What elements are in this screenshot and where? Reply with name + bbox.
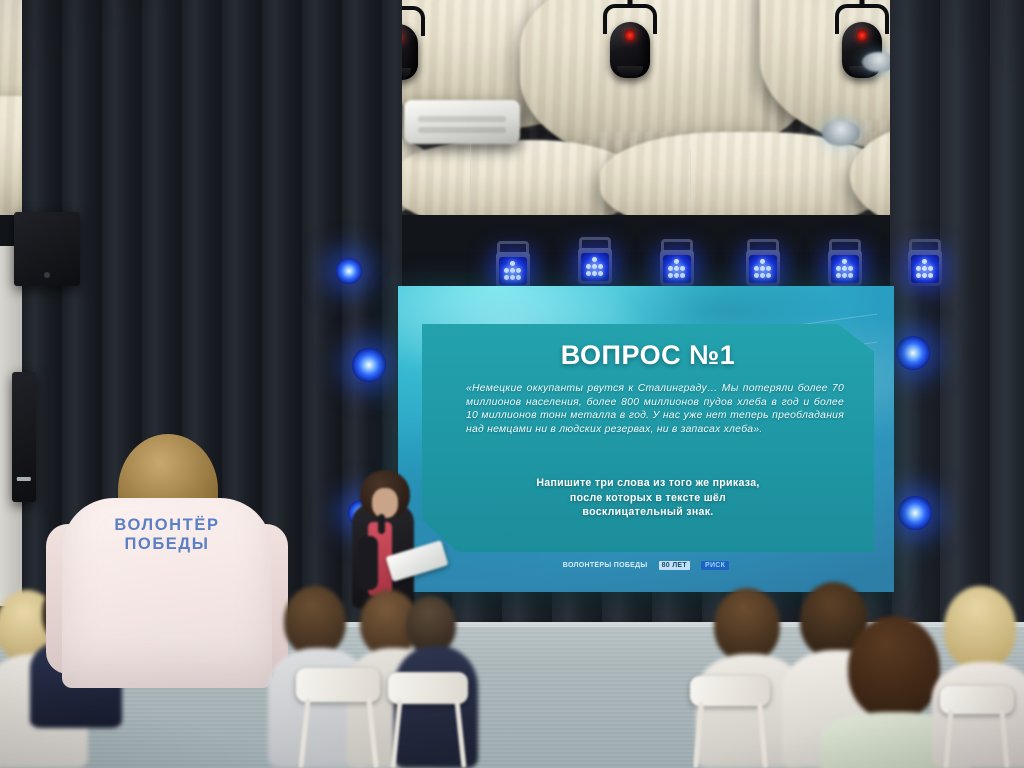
slide-content-panel: ВОПРОС №1 «Немецкие оккупанты рвутся к С… (422, 324, 874, 552)
volunteers-of-victory-logo: ВОЛОНТЁРЫ ПОБЕДЫ (563, 562, 648, 569)
risk-logo: РИСК (701, 561, 729, 570)
slide-task-line-2: после которых в тексте шёл (452, 491, 844, 506)
80-let-pobedy-logo: 80 ЛЕТ (659, 561, 690, 570)
par-light (746, 250, 780, 286)
ceiling-downlight (822, 120, 860, 146)
hanging-wire (470, 140, 471, 218)
ceiling-projector (404, 100, 520, 144)
slide-logo-row: ВОЛОНТЁРЫ ПОБЕДЫ 80 ЛЕТ РИСК (398, 561, 894, 570)
par-light (496, 252, 530, 288)
volunteer-shirt-text: ВОЛОНТЁР ПОБЕДЫ (62, 516, 272, 554)
folding-chair (940, 686, 1024, 768)
blue-spot-light (898, 496, 932, 530)
slide-task-line-3: восклицательный знак. (452, 505, 844, 520)
shirt-line-1: ВОЛОНТЁР (62, 516, 272, 535)
loudspeaker-column (12, 372, 36, 502)
slide-title: ВОПРОС №1 (422, 340, 874, 371)
folding-chair (296, 668, 396, 768)
par-light (578, 248, 612, 284)
shirt-line-2: ПОБЕДЫ (62, 535, 272, 554)
folding-chair (388, 672, 484, 768)
folding-chair (690, 676, 786, 768)
par-light (660, 250, 694, 286)
blue-spot-light (352, 348, 386, 382)
par-light (908, 250, 942, 286)
blue-spot-light (336, 258, 362, 284)
projection-screen: ВОПРОС №1 «Немецкие оккупанты рвутся к С… (398, 286, 894, 592)
hanging-wire (690, 150, 691, 216)
slide-quote: «Немецкие оккупанты рвутся к Сталинграду… (466, 382, 844, 436)
volunteer-standing: ВОЛОНТЁР ПОБЕДЫ (62, 440, 272, 768)
screenshot-root: ВОПРОС №1 «Немецкие оккупанты рвутся к С… (0, 0, 1024, 768)
loudspeaker (14, 212, 80, 286)
par-light (828, 250, 862, 286)
slide-task-line-1: Напишите три слова из того же приказа, (452, 476, 844, 491)
slide-task: Напишите три слова из того же приказа, п… (452, 476, 844, 520)
blue-spot-light (896, 336, 930, 370)
